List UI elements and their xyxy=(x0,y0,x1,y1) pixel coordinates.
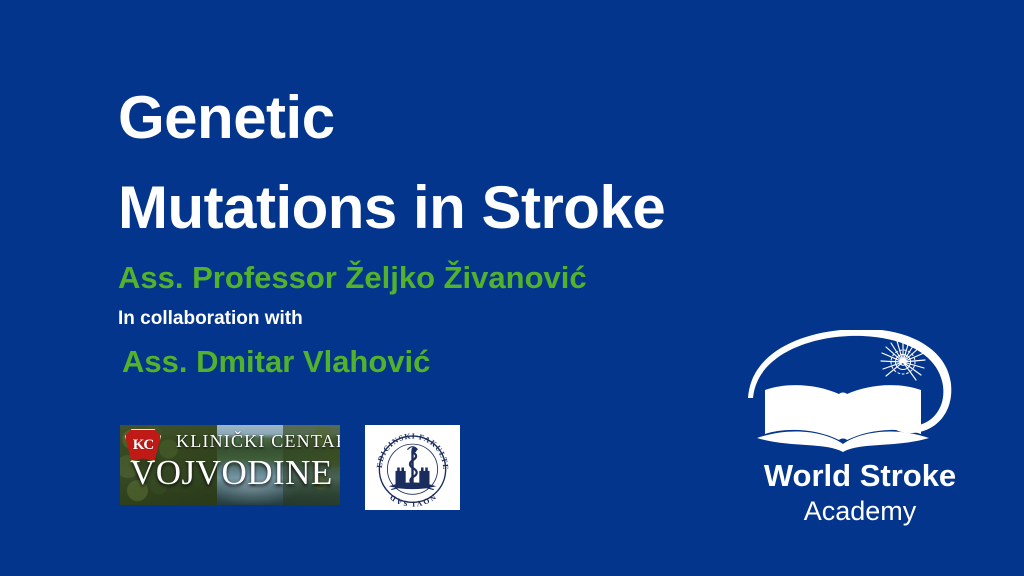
wsa-book-swoosh-icon xyxy=(735,330,985,455)
wsa-logo-line-1: World Stroke xyxy=(735,460,985,491)
presenter-name: Ass. Professor Željko Živanović xyxy=(118,262,587,293)
wsa-logo-line-2: Academy xyxy=(735,498,985,525)
collaborator-name: Ass. Dmitar Vlahović xyxy=(122,346,430,377)
medicinski-fakultet-novi-sad-seal: MEDICINSKI FAKULTET NOVI SAD xyxy=(365,425,460,510)
klinicki-centar-vojvodine-logo: KC KLINIČKI CENTAR VOJVODINE xyxy=(120,425,340,505)
seal-graphic: MEDICINSKI FAKULTET NOVI SAD xyxy=(365,425,460,510)
slide-title-line-2: Mutations in Stroke xyxy=(118,178,665,238)
slide-title-line-1: Genetic xyxy=(118,88,335,148)
kcv-logo-line-2: VOJVODINE xyxy=(130,453,333,493)
collaboration-label: In collaboration with xyxy=(118,309,303,328)
svg-text:MEDICINSKI FAKULTET: MEDICINSKI FAKULTET xyxy=(366,425,450,470)
kcv-logo-line-1: KLINIČKI CENTAR xyxy=(176,431,340,452)
world-stroke-academy-logo: World Stroke Academy xyxy=(735,330,985,535)
svg-text:NOVI SAD: NOVI SAD xyxy=(388,492,438,508)
presentation-slide: Genetic Mutations in Stroke Ass. Profess… xyxy=(0,0,1024,576)
